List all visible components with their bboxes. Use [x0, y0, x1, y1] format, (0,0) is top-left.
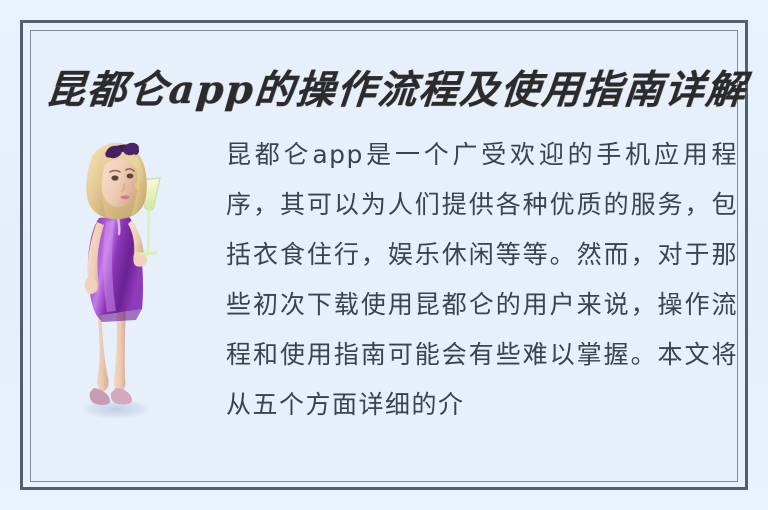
- article-page: 昆都仑app的操作流程及使用指南详解 昆都仑app是一个广受欢迎的手机应用程序，…: [0, 0, 768, 510]
- article-body-text: 昆都仑app是一个广受欢迎的手机应用程序，其可以为人们提供各种优质的服务，包括衣…: [226, 130, 738, 430]
- shoe-back: [111, 388, 132, 404]
- eye-right: [127, 174, 134, 179]
- earring: [135, 183, 139, 190]
- illustration-cartoon-woman: [44, 112, 204, 432]
- champagne-glass-base: [141, 253, 156, 254]
- champagne-glass-stem: [148, 210, 149, 252]
- eye-left: [111, 175, 118, 180]
- page-title: 昆都仑app的操作流程及使用指南详解: [44, 62, 729, 118]
